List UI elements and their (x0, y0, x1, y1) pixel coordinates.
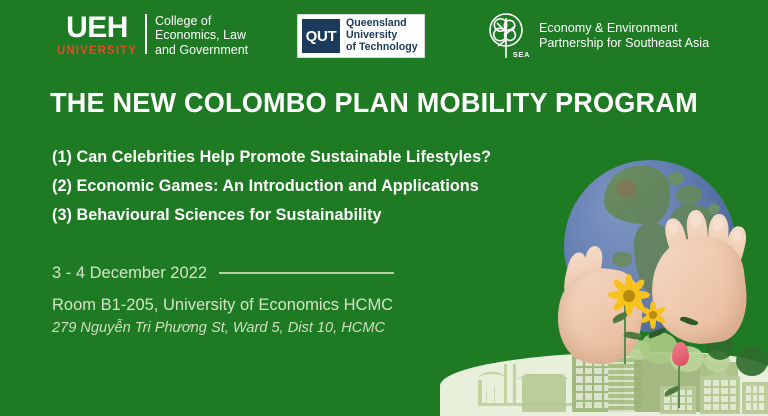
ueh-mark-text: UEH (66, 13, 128, 43)
sea-caption-text: SEA (513, 50, 530, 59)
list-item: (1) Can Celebrities Help Promote Sustain… (52, 143, 582, 172)
finger (560, 251, 588, 298)
date-row: 3 - 4 December 2022 (52, 262, 452, 284)
qut-logo[interactable]: QUT Queensland University of Technology (297, 14, 425, 58)
bush (592, 326, 618, 348)
ueh-wordmark: UEH UNIVERSITY (57, 13, 137, 58)
eepsea-logo[interactable]: SEA Economy & Environment Partnership fo… (484, 12, 709, 60)
leaf (611, 311, 628, 323)
finger (721, 225, 748, 274)
leaf (623, 330, 641, 341)
bush (626, 340, 650, 360)
building-house-right (742, 382, 768, 414)
ground-shape (440, 352, 768, 416)
flower-stem (624, 292, 626, 364)
list-item: (2) Economic Games: An Introduction and … (52, 172, 582, 201)
event-details: 3 - 4 December 2022 Room B1-205, Univers… (52, 262, 452, 338)
building-angled (700, 362, 738, 412)
suspension-bridge-illustration (478, 358, 598, 410)
bush (736, 346, 768, 376)
ueh-university-text: UNIVERSITY (57, 44, 137, 58)
leaf (680, 315, 699, 328)
bush (640, 332, 678, 364)
event-date: 3 - 4 December 2022 (52, 262, 207, 284)
eepsea-name-text: Economy & Environment Partnership for So… (539, 21, 709, 51)
bush (706, 332, 734, 360)
partner-logos-row: UEH UNIVERSITY College of Economics, Law… (0, 0, 768, 78)
globe-illustration (564, 160, 736, 332)
qut-mark: QUT (302, 19, 340, 53)
bush (670, 346, 704, 372)
list-item: (3) Behavioural Sciences for Sustainabil… (52, 201, 582, 230)
right-hand (646, 233, 752, 350)
poster-canvas: UEH UNIVERSITY College of Economics, Law… (0, 0, 768, 416)
event-venue: Room B1-205, University of Economics HCM… (52, 294, 452, 317)
finger (685, 209, 711, 267)
pink-tulip (670, 342, 692, 376)
left-hand (551, 262, 649, 370)
leaf (648, 327, 667, 338)
ueh-college-text: College of Economics, Law and Government (155, 14, 248, 58)
building-house-left (660, 386, 696, 414)
event-address: 279 Nguyễn Tri Phương St, Ward 5, Dist 1… (52, 318, 452, 338)
tree-icon: SEA (484, 12, 530, 60)
roof-peak (710, 366, 732, 378)
leaf (663, 385, 680, 396)
ueh-logo[interactable]: UEH UNIVERSITY College of Economics, Law… (57, 13, 248, 58)
earth-in-hands-illustration (556, 160, 768, 360)
finger (707, 214, 730, 269)
yellow-flower (606, 272, 652, 318)
finger (581, 245, 604, 291)
divider-rule (219, 272, 394, 274)
bush (704, 350, 730, 372)
building-house-peak (700, 376, 740, 414)
qut-name-text: Queensland University of Technology (346, 18, 418, 53)
logo-divider (145, 14, 147, 54)
building-wide (634, 354, 708, 412)
yellow-flower-small (638, 300, 668, 330)
page-title: The New Colombo Plan Mobility Program (50, 88, 730, 118)
building-tower (572, 330, 624, 412)
tulip-stem (678, 366, 680, 408)
session-list: (1) Can Celebrities Help Promote Sustain… (52, 143, 582, 230)
building-block (522, 374, 566, 412)
finger (662, 216, 693, 269)
building-striped (608, 350, 642, 412)
